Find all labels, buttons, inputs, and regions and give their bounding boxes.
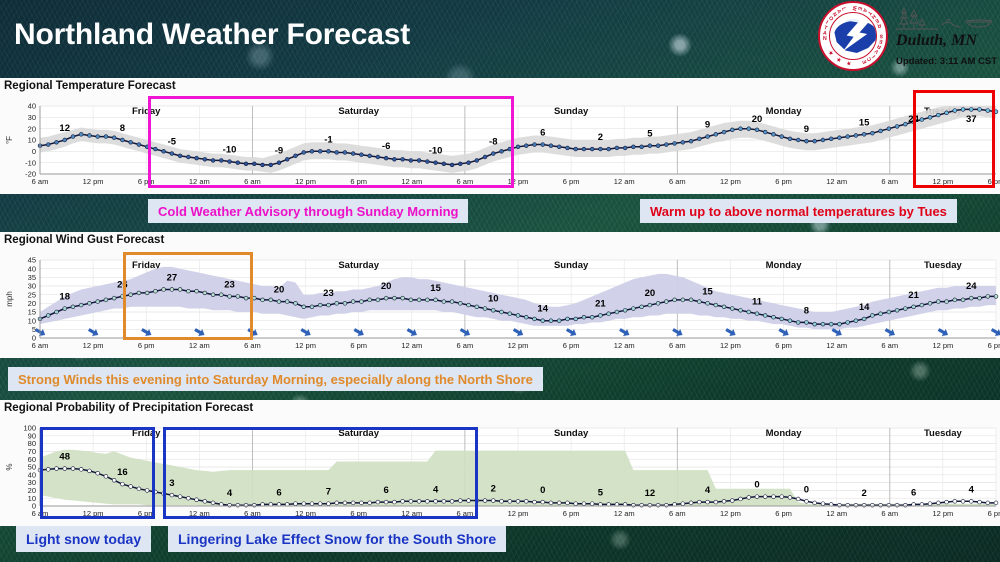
svg-text:mph: mph	[5, 291, 14, 307]
svg-text:12 am: 12 am	[401, 177, 422, 186]
svg-text:12: 12	[645, 488, 656, 499]
svg-text:-10: -10	[223, 145, 237, 156]
svg-text:6 pm: 6 pm	[775, 341, 792, 350]
svg-text:6 am: 6 am	[881, 341, 898, 350]
svg-text:20: 20	[274, 285, 285, 296]
svg-text:2: 2	[491, 484, 496, 495]
svg-text:40: 40	[28, 470, 36, 479]
svg-text:23: 23	[323, 288, 334, 299]
svg-text:6 am: 6 am	[669, 341, 686, 350]
pines-and-canoe-icon	[894, 2, 994, 32]
svg-text:12 am: 12 am	[614, 509, 635, 518]
temperature-chart[interactable]: -20-10010203040°F6 am12 pm6 pm12 am6 am1…	[0, 96, 1000, 194]
svg-text:Tuesday: Tuesday	[924, 260, 963, 271]
svg-text:21: 21	[595, 298, 606, 309]
svg-text:6 am: 6 am	[32, 341, 49, 350]
svg-text:0: 0	[754, 480, 759, 491]
svg-text:24: 24	[966, 281, 977, 292]
updated-timestamp: Updated: 3:11 AM CST	[896, 56, 997, 67]
svg-text:6 pm: 6 pm	[563, 177, 580, 186]
svg-text:6 am: 6 am	[669, 177, 686, 186]
svg-text:50: 50	[28, 463, 36, 472]
svg-text:10: 10	[28, 316, 36, 325]
svg-text:2: 2	[598, 132, 603, 143]
svg-text:30: 30	[28, 282, 36, 291]
svg-text:8: 8	[120, 123, 125, 134]
svg-text:Monday: Monday	[766, 260, 803, 271]
svg-text:6 am: 6 am	[244, 341, 261, 350]
svg-text:5: 5	[598, 487, 604, 498]
svg-text:Saturday: Saturday	[338, 260, 379, 271]
svg-text:Friday: Friday	[132, 106, 161, 117]
svg-text:6 pm: 6 pm	[775, 177, 792, 186]
svg-text:15: 15	[702, 286, 713, 297]
page-title: Northland Weather Forecast	[14, 18, 410, 52]
svg-text:4: 4	[227, 488, 233, 499]
svg-text:6 pm: 6 pm	[988, 509, 1000, 518]
precip-chart[interactable]: 0102030405060708090100%6 am12 pm6 pm12 a…	[0, 418, 1000, 526]
wind-chart-title: Regional Wind Gust Forecast	[4, 234, 164, 246]
svg-text:6 am: 6 am	[881, 509, 898, 518]
svg-text:6 pm: 6 pm	[563, 341, 580, 350]
svg-text:21: 21	[908, 290, 919, 301]
svg-text:12 pm: 12 pm	[720, 509, 741, 518]
nws-branding: NATIONAL WEATHER SERVICE ★ ★ ★ Duluth, M…	[814, 0, 1000, 74]
svg-text:6 am: 6 am	[457, 341, 474, 350]
svg-text:5: 5	[32, 325, 36, 334]
svg-text:6 pm: 6 pm	[350, 341, 367, 350]
wind-panel: Regional Wind Gust Forecast 051015202530…	[0, 232, 1000, 358]
svg-text:6: 6	[383, 485, 388, 496]
svg-text:15: 15	[430, 283, 441, 294]
temperature-panel: Regional Temperature Forecast -20-100102…	[0, 78, 1000, 194]
svg-text:6 am: 6 am	[457, 509, 474, 518]
svg-text:Monday: Monday	[766, 106, 803, 117]
svg-text:6: 6	[276, 487, 281, 498]
svg-text:4: 4	[969, 484, 975, 495]
callout-strong-winds: Strong Winds this evening into Saturday …	[8, 367, 543, 391]
svg-text:14: 14	[537, 304, 548, 315]
svg-text:20: 20	[752, 114, 763, 125]
svg-text:6 am: 6 am	[244, 177, 261, 186]
svg-text:12 pm: 12 pm	[295, 509, 316, 518]
svg-text:24: 24	[908, 114, 919, 125]
svg-text:Saturday: Saturday	[338, 428, 379, 439]
temperature-chart-title: Regional Temperature Forecast	[4, 80, 176, 92]
svg-text:16: 16	[117, 467, 128, 478]
svg-text:6 pm: 6 pm	[775, 509, 792, 518]
svg-text:Friday: Friday	[132, 428, 161, 439]
svg-text:23: 23	[224, 279, 235, 290]
svg-text:6 pm: 6 pm	[138, 509, 155, 518]
svg-text:15: 15	[28, 308, 36, 317]
svg-text:3: 3	[169, 478, 174, 489]
svg-text:12 pm: 12 pm	[508, 509, 529, 518]
svg-text:100: 100	[23, 424, 36, 433]
svg-text:Saturday: Saturday	[338, 106, 379, 117]
svg-text:18: 18	[59, 292, 70, 303]
svg-text:Monday: Monday	[766, 428, 803, 439]
svg-text:48: 48	[59, 452, 70, 463]
svg-text:12 pm: 12 pm	[932, 341, 953, 350]
svg-text:6 am: 6 am	[244, 509, 261, 518]
svg-text:6 am: 6 am	[881, 177, 898, 186]
svg-text:12 pm: 12 pm	[508, 177, 529, 186]
svg-text:Sunday: Sunday	[554, 428, 589, 439]
svg-text:6: 6	[911, 487, 916, 498]
svg-text:12 am: 12 am	[614, 177, 635, 186]
callout-light-snow: Light snow today	[16, 526, 151, 552]
svg-text:8: 8	[804, 305, 809, 316]
svg-text:20: 20	[28, 299, 36, 308]
svg-text:0: 0	[804, 484, 809, 495]
svg-text:6: 6	[540, 128, 545, 139]
svg-text:20: 20	[28, 124, 36, 133]
svg-text:12 am: 12 am	[614, 341, 635, 350]
svg-text:12 pm: 12 pm	[508, 341, 529, 350]
callout-cold-advisory: Cold Weather Advisory through Sunday Mor…	[148, 199, 468, 223]
svg-text:12 pm: 12 pm	[932, 509, 953, 518]
svg-text:9: 9	[705, 120, 710, 131]
svg-text:10: 10	[488, 293, 499, 304]
svg-text:4: 4	[705, 485, 711, 496]
svg-text:-10: -10	[429, 146, 443, 157]
svg-text:12 am: 12 am	[826, 341, 847, 350]
svg-text:30: 30	[28, 478, 36, 487]
svg-text:10: 10	[28, 494, 36, 503]
svg-text:9: 9	[804, 124, 809, 135]
svg-text:Sunday: Sunday	[554, 260, 589, 271]
svg-text:12 pm: 12 pm	[295, 177, 316, 186]
svg-text:12 am: 12 am	[189, 177, 210, 186]
precip-panel: Regional Probability of Precipitation Fo…	[0, 400, 1000, 526]
svg-text:4: 4	[433, 484, 439, 495]
svg-text:26: 26	[117, 279, 128, 290]
svg-text:6 pm: 6 pm	[350, 509, 367, 518]
svg-text:12 am: 12 am	[826, 177, 847, 186]
page-header: Northland Weather Forecast NATIONAL WEAT…	[0, 0, 1000, 72]
svg-text:-6: -6	[382, 141, 390, 152]
svg-text:0: 0	[32, 147, 36, 156]
callout-warmup: Warm up to above normal temperatures by …	[640, 199, 957, 223]
svg-text:12 pm: 12 pm	[720, 341, 741, 350]
precip-chart-title: Regional Probability of Precipitation Fo…	[4, 402, 253, 414]
svg-text:12 pm: 12 pm	[932, 177, 953, 186]
svg-text:37: 37	[966, 114, 977, 125]
svg-text:6 pm: 6 pm	[988, 341, 1000, 350]
svg-text:15: 15	[859, 117, 870, 128]
wind-chart[interactable]: 051015202530354045mph6 am12 pm6 pm12 am6…	[0, 250, 1000, 358]
svg-text:6 pm: 6 pm	[138, 177, 155, 186]
svg-text:0: 0	[540, 485, 545, 496]
svg-text:12 pm: 12 pm	[295, 341, 316, 350]
svg-text:6 am: 6 am	[32, 177, 49, 186]
svg-text:27: 27	[167, 272, 178, 283]
svg-text:Tuesday: Tuesday	[924, 428, 963, 439]
svg-text:20: 20	[28, 486, 36, 495]
nws-seal-icon: NATIONAL WEATHER SERVICE ★ ★ ★	[818, 1, 888, 71]
svg-text:12 pm: 12 pm	[83, 177, 104, 186]
svg-text:12: 12	[59, 123, 70, 134]
svg-text:14: 14	[859, 302, 870, 313]
svg-text:12 am: 12 am	[826, 509, 847, 518]
svg-text:12 pm: 12 pm	[83, 341, 104, 350]
svg-text:6 pm: 6 pm	[563, 509, 580, 518]
svg-text:35: 35	[28, 273, 36, 282]
svg-text:2: 2	[861, 488, 866, 499]
svg-text:-10: -10	[25, 158, 36, 167]
svg-text:60: 60	[28, 455, 36, 464]
svg-text:45: 45	[28, 256, 36, 265]
svg-text:°F: °F	[5, 136, 14, 144]
svg-text:7: 7	[326, 487, 331, 498]
svg-text:6 am: 6 am	[32, 509, 49, 518]
svg-text:-5: -5	[168, 137, 177, 148]
svg-text:-1: -1	[324, 134, 333, 145]
svg-text:12 am: 12 am	[189, 341, 210, 350]
svg-text:90: 90	[28, 431, 36, 440]
svg-text:80: 80	[28, 439, 36, 448]
svg-text:6 am: 6 am	[457, 177, 474, 186]
svg-text:12 am: 12 am	[189, 509, 210, 518]
svg-text:-9: -9	[275, 146, 283, 157]
svg-text:12 am: 12 am	[401, 509, 422, 518]
svg-text:6 pm: 6 pm	[988, 177, 1000, 186]
svg-text:40: 40	[28, 102, 36, 111]
svg-text:12 pm: 12 pm	[83, 509, 104, 518]
svg-text:40: 40	[28, 264, 36, 273]
svg-text:6 pm: 6 pm	[138, 341, 155, 350]
svg-text:6 am: 6 am	[669, 509, 686, 518]
svg-text:-8: -8	[489, 137, 497, 148]
svg-text:Sunday: Sunday	[554, 106, 589, 117]
svg-text:20: 20	[645, 288, 656, 299]
office-name: Duluth, MN	[896, 32, 977, 50]
svg-text:12 pm: 12 pm	[720, 177, 741, 186]
svg-text:%: %	[5, 463, 14, 470]
svg-text:25: 25	[28, 290, 36, 299]
svg-text:6 pm: 6 pm	[350, 177, 367, 186]
svg-text:5: 5	[647, 129, 653, 140]
callout-lake-effect: Lingering Lake Effect Snow for the South…	[168, 526, 506, 552]
svg-text:30: 30	[28, 113, 36, 122]
svg-text:70: 70	[28, 447, 36, 456]
svg-text:11: 11	[752, 297, 763, 308]
svg-text:12 am: 12 am	[401, 341, 422, 350]
svg-text:10: 10	[28, 136, 36, 145]
svg-text:20: 20	[381, 281, 392, 292]
